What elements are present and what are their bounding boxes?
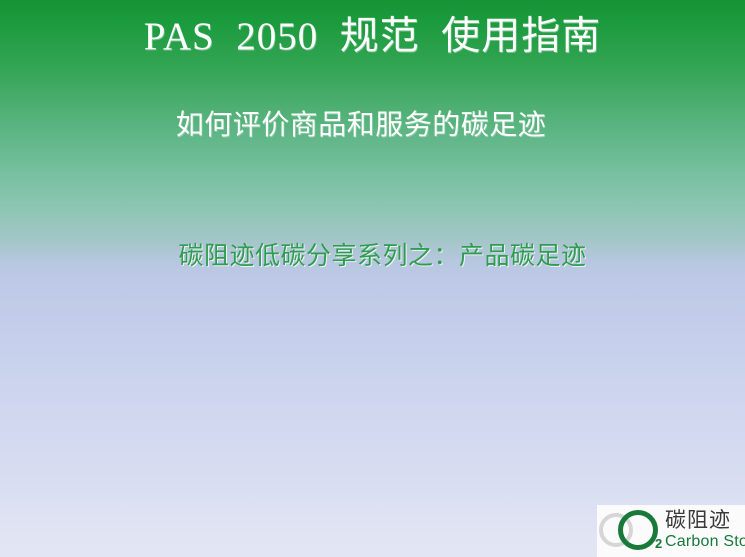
presentation-slide: PAS 2050 规范 使用指南 如何评价商品和服务的碳足迹 碳阻迹低碳分享系列… bbox=[0, 0, 745, 557]
oxygen-o-ring-icon bbox=[618, 510, 658, 550]
slide-subtitle: 如何评价商品和服务的碳足迹 bbox=[0, 107, 722, 145]
page-title: PAS 2050 规范 使用指南 bbox=[0, 13, 745, 61]
logo-mark: 2 bbox=[597, 505, 669, 557]
brand-logo: 2 碳阻迹 Carbon Stop bbox=[597, 505, 745, 557]
slide-series-line: 碳阻迹低碳分享系列之：产品碳足迹 bbox=[0, 240, 745, 274]
logo-name-cn: 碳阻迹 bbox=[665, 509, 745, 532]
co2-subscript: 2 bbox=[655, 537, 662, 550]
logo-name-en: Carbon Stop bbox=[665, 532, 745, 551]
logo-wordmark: 碳阻迹 Carbon Stop bbox=[665, 505, 745, 551]
